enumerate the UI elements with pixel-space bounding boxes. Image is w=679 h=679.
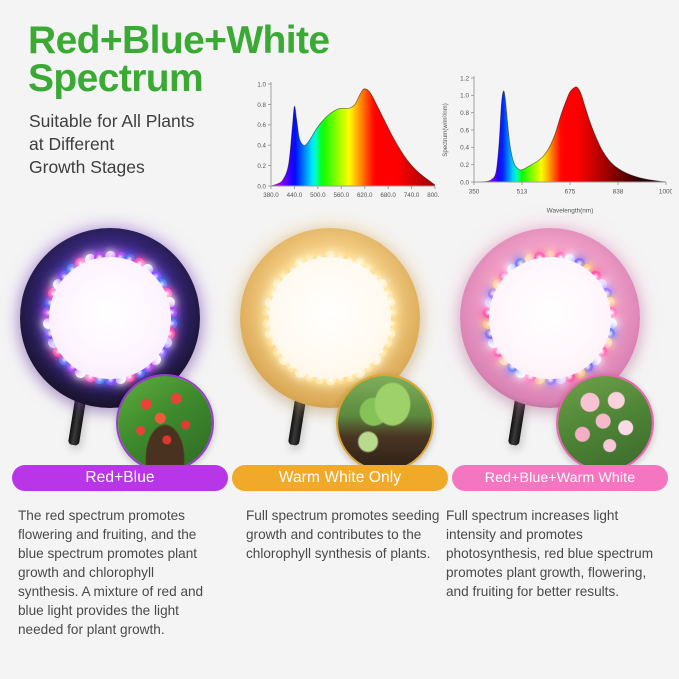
rose-plant-photo [558, 376, 652, 470]
svg-text:0.2: 0.2 [257, 163, 266, 170]
svg-text:1.0: 1.0 [460, 93, 469, 100]
svg-text:0.0: 0.0 [460, 179, 469, 186]
badge-warm-white: Warm White Only [232, 465, 448, 491]
svg-text:380.0: 380.0 [263, 192, 279, 199]
svg-text:0.8: 0.8 [460, 110, 469, 117]
svg-text:440.0: 440.0 [287, 192, 303, 199]
svg-text:0.6: 0.6 [460, 127, 469, 134]
svg-text:Wavelength(nm): Wavelength(nm) [547, 208, 594, 215]
svg-text:0.8: 0.8 [257, 102, 266, 109]
svg-text:513: 513 [517, 188, 528, 195]
ring-inner-diffuser [49, 257, 171, 379]
product-panel: Warm White Only [232, 228, 448, 498]
page-subtitle-line1: Suitable for All Plants [29, 110, 279, 133]
spectrum-chart-full: 0.00.20.40.60.81.0380.0440.0500.0560.062… [243, 74, 439, 208]
product-panel: Red+Blue [12, 228, 228, 498]
svg-text:800.0: 800.0 [427, 192, 439, 199]
svg-text:350: 350 [469, 188, 480, 195]
svg-text:675: 675 [565, 188, 576, 195]
pepper-plant-photo [118, 376, 212, 470]
page-subtitle-line2: at Different [29, 133, 279, 156]
ring-inner-diffuser [269, 257, 391, 379]
svg-text:1.0: 1.0 [257, 81, 266, 88]
product-description: Full spectrum increases light intensity … [446, 506, 662, 601]
svg-text:1000: 1000 [659, 188, 672, 195]
page-subtitle: Suitable for All Plants at Different Gro… [29, 110, 279, 178]
seedling-photo [336, 374, 434, 472]
svg-text:0.0: 0.0 [257, 183, 266, 190]
badge-red-blue: Red+Blue [12, 465, 228, 491]
badge-red-blue-warm-white: Red+Blue+Warm White [452, 465, 668, 491]
page-title-line1: Red+Blue+White [28, 19, 330, 62]
svg-text:0.2: 0.2 [460, 162, 469, 169]
svg-text:0.6: 0.6 [257, 122, 266, 129]
svg-text:838: 838 [613, 188, 624, 195]
product-panel: Red+Blue+Warm White [452, 228, 668, 498]
seedling-photo [338, 376, 432, 470]
rose-plant-photo [556, 374, 654, 472]
product-description: Full spectrum promotes seeding growth an… [246, 506, 442, 563]
svg-text:680.0: 680.0 [380, 192, 396, 199]
svg-text:500.0: 500.0 [310, 192, 326, 199]
spectrum-chart-red-blue-white: 0.00.20.40.60.81.01.23505136758381000Wav… [440, 68, 672, 214]
svg-text:620.0: 620.0 [357, 192, 373, 199]
svg-text:Spectrum(w/m²/nm): Spectrum(w/m²/nm) [442, 103, 449, 157]
svg-text:0.4: 0.4 [460, 145, 469, 152]
product-description: The red spectrum promotes flowering and … [18, 506, 214, 639]
pepper-plant-photo [116, 374, 214, 472]
ring-inner-diffuser [489, 257, 611, 379]
product-infographic: Red+Blue+White Spectrum Suitable for All… [0, 0, 679, 679]
svg-text:0.4: 0.4 [257, 143, 266, 150]
svg-text:740.0: 740.0 [404, 192, 420, 199]
page-subtitle-line3: Growth Stages [29, 156, 279, 179]
svg-text:560.0: 560.0 [334, 192, 350, 199]
svg-text:1.2: 1.2 [460, 75, 469, 82]
